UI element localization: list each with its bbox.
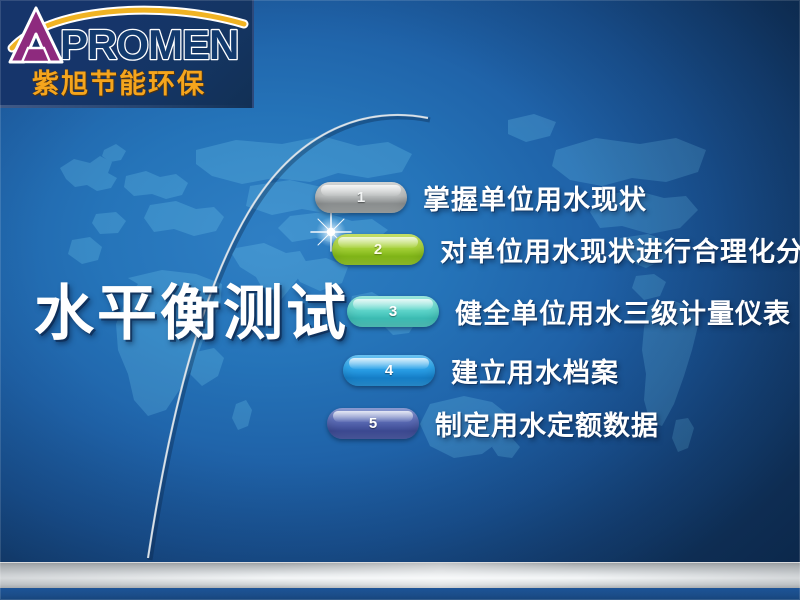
step-label: 对单位用水现状进行合理化分析 (440, 230, 800, 269)
list-item[interactable]: 4 建立用水档案 (343, 351, 619, 390)
step-pill-3[interactable]: 3 (347, 296, 439, 327)
list-item[interactable]: 1 掌握单位用水现状 (315, 178, 647, 217)
slide-canvas: PROMEN 紫旭节能环保 水平衡测试 (0, 0, 800, 600)
step-number: 5 (369, 415, 377, 432)
list-item[interactable]: 3 健全单位用水三级计量仪表 (347, 292, 791, 331)
step-number: 2 (374, 241, 382, 258)
step-pill-5[interactable]: 5 (327, 408, 419, 439)
step-pill-2[interactable]: 2 (332, 234, 424, 265)
list-item[interactable]: 2 对单位用水现状进行合理化分析 (332, 230, 800, 269)
step-pill-1[interactable]: 1 (315, 182, 407, 213)
footer-silver-band (0, 562, 800, 590)
step-label: 制定用水定额数据 (435, 404, 659, 443)
step-label: 建立用水档案 (451, 351, 619, 390)
footer-blue-strip (0, 588, 800, 600)
step-number: 4 (385, 362, 393, 379)
step-number: 3 (389, 303, 397, 320)
step-pill-4[interactable]: 4 (343, 355, 435, 386)
list-item[interactable]: 5 制定用水定额数据 (327, 404, 659, 443)
step-label: 掌握单位用水现状 (423, 178, 647, 217)
step-number: 1 (357, 189, 365, 206)
step-label: 健全单位用水三级计量仪表 (455, 292, 791, 331)
bullet-list: 1 掌握单位用水现状 2 对单位用水现状进行合理化分析 3 健全单位用水三级计量… (0, 0, 800, 600)
